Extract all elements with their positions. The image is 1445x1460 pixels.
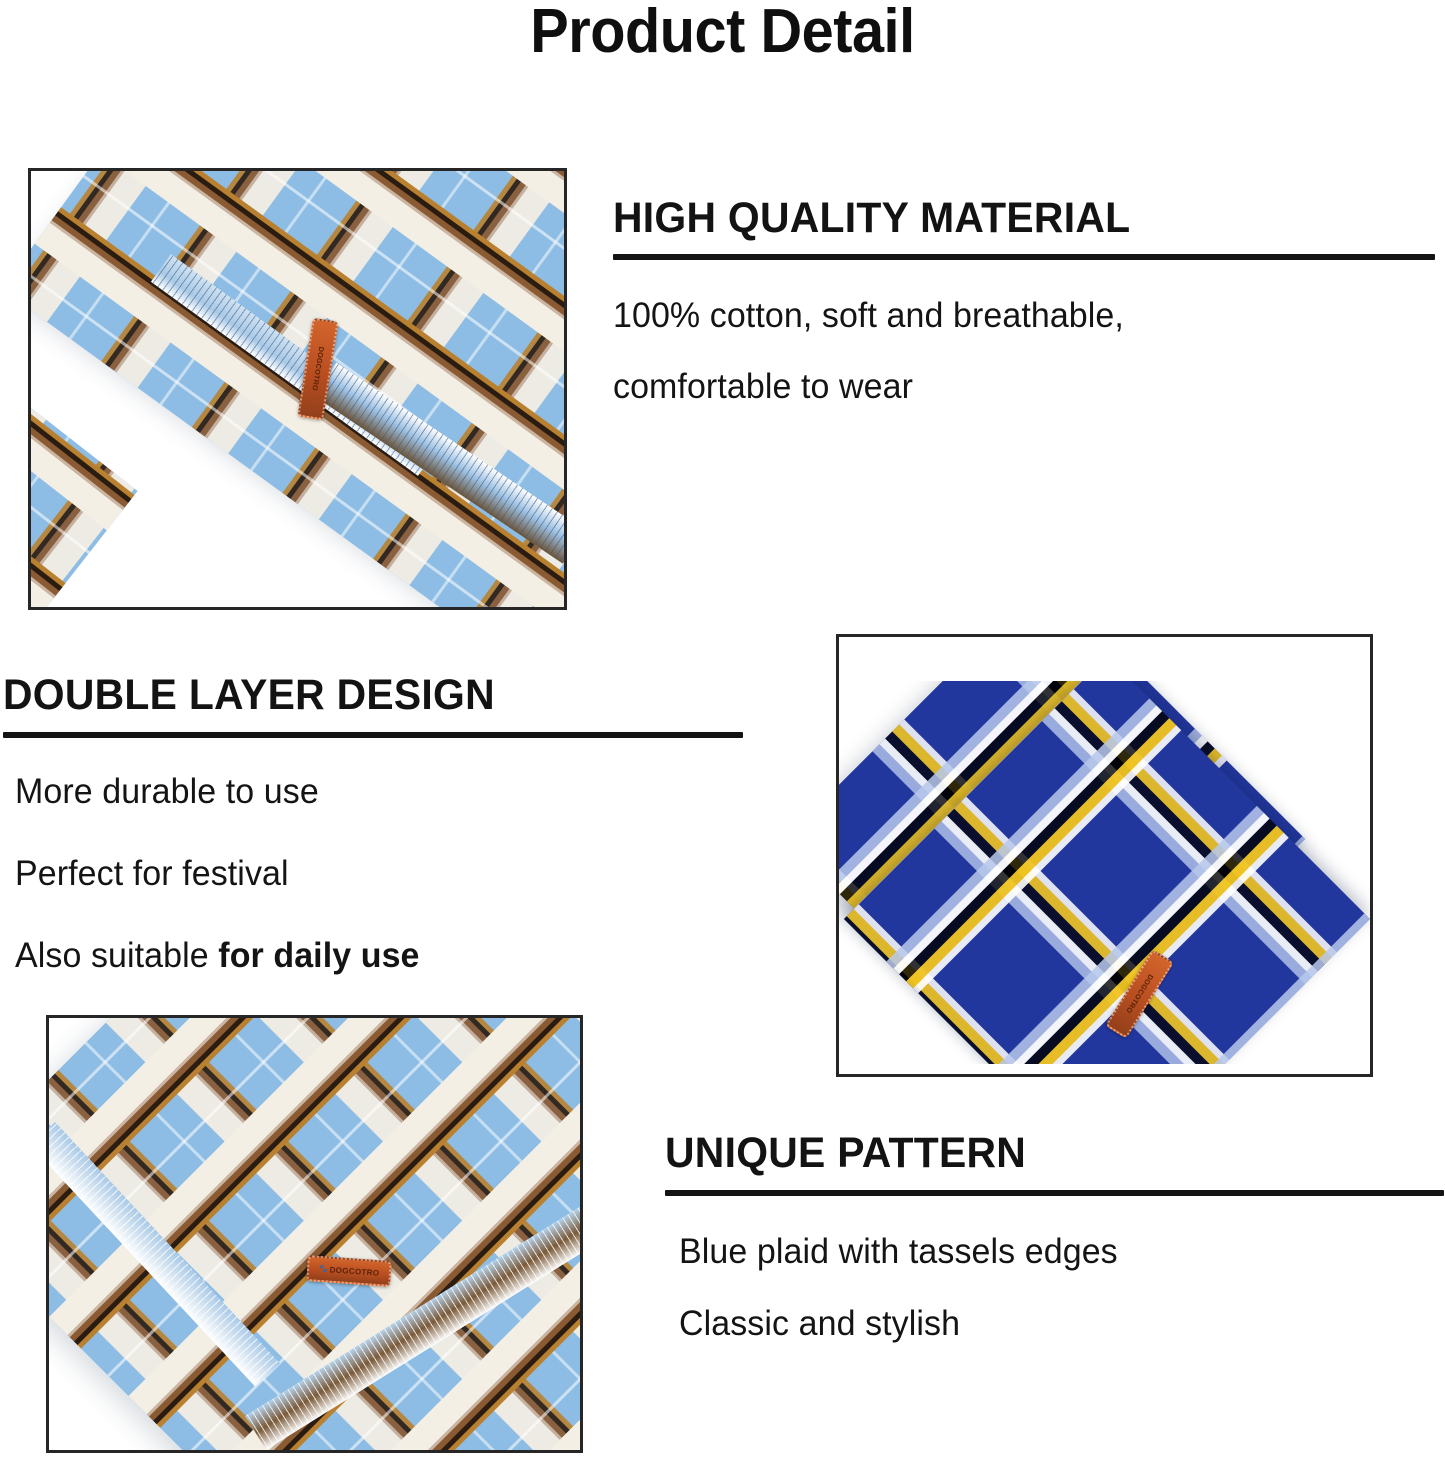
paw-print-icon: 🐾 <box>318 1265 328 1273</box>
feature-block-double-layer-design: DOUBLE LAYER DESIGN More durable to use … <box>3 673 748 976</box>
feature-line-emphasis: for daily use <box>218 936 419 975</box>
feature-line: More durable to use <box>15 772 726 812</box>
feature-line-text: Also suitable <box>15 936 218 975</box>
product-photo-corner-closeup: 🐾DOGCOTRO <box>46 1015 583 1453</box>
photo-stage: DOGCOTRO <box>31 171 564 607</box>
photo-crop-mask-bottom <box>836 1064 1373 1077</box>
heading-divider <box>3 732 743 738</box>
feature-line: comfortable to wear <box>613 367 1418 407</box>
feature-line: Perfect for festival <box>15 854 726 894</box>
brand-tag-text: DOGCOTRO <box>329 1265 379 1277</box>
feature-line: Blue plaid with tassels edges <box>679 1232 1422 1272</box>
product-photo-folded-scarf: DOGCOTRO <box>28 168 567 610</box>
heading-divider <box>613 254 1435 260</box>
feature-line: 100% cotton, soft and breathable, <box>613 296 1418 336</box>
feature-heading: HIGH QUALITY MATERIAL <box>613 196 1402 241</box>
feature-block-unique-pattern: UNIQUE PATTERN Blue plaid with tassels e… <box>665 1131 1445 1344</box>
product-photo-triangle-bandana: DOGCOTRO <box>836 634 1373 1077</box>
feature-heading: UNIQUE PATTERN <box>665 1131 1406 1176</box>
feature-block-high-quality-material: HIGH QUALITY MATERIAL 100% cotton, soft … <box>613 196 1443 407</box>
feature-line: Also suitable for daily use <box>15 936 726 976</box>
feature-heading: DOUBLE LAYER DESIGN <box>3 673 711 718</box>
photo-stage: 🐾DOGCOTRO <box>49 1018 580 1450</box>
feature-line: Classic and stylish <box>679 1304 1422 1344</box>
brand-tag-label: 🐾DOGCOTRO <box>312 1259 385 1284</box>
page-title: Product Detail <box>51 0 1395 67</box>
photo-crop-mask-top <box>836 634 1373 681</box>
photo-stage: DOGCOTRO <box>839 637 1370 1074</box>
scarf-body <box>28 168 567 610</box>
heading-divider <box>665 1190 1444 1196</box>
